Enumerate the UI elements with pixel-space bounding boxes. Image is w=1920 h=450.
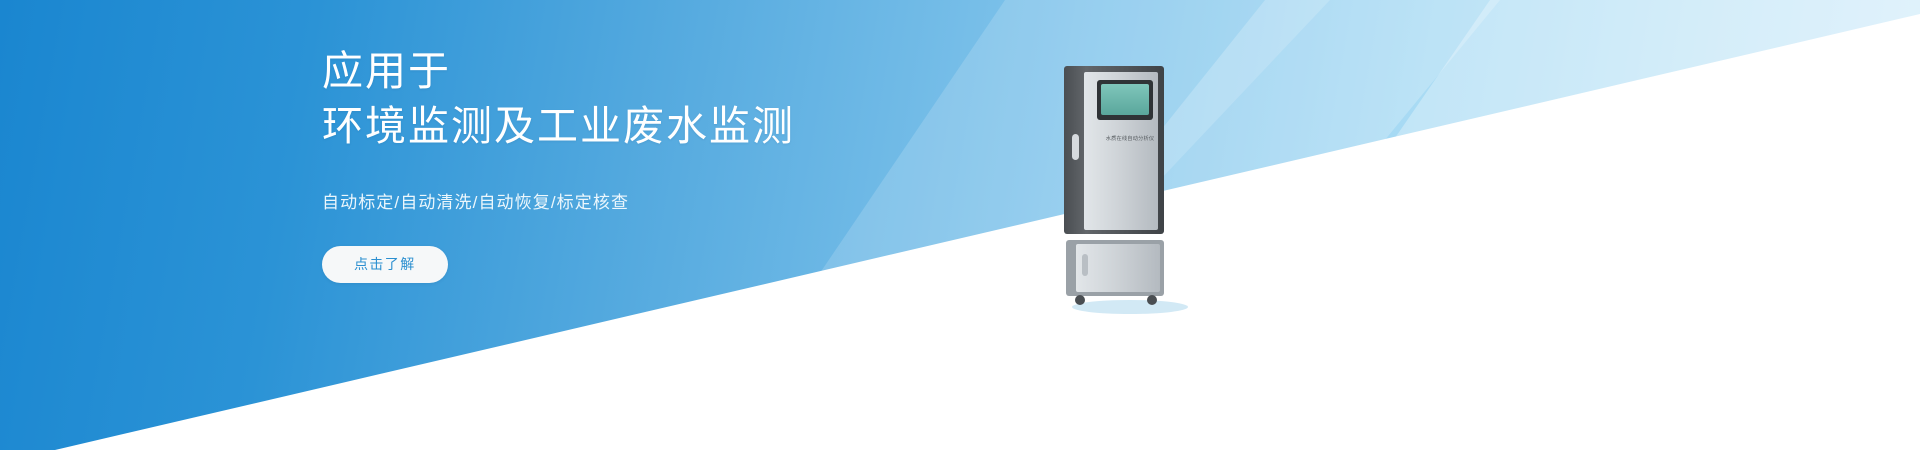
display-screen-face: [1101, 84, 1149, 115]
hero-text-block: 应用于 环境监测及工业废水监测 自动标定/自动清洗/自动恢复/标定核查 点击了解: [322, 44, 1082, 283]
cabinet-lower-door: [1076, 244, 1160, 292]
page-title: 应用于 环境监测及工业废水监测: [322, 44, 1082, 154]
product-analyzer-image: [1060, 64, 1190, 314]
headline-line-1: 应用于: [322, 44, 1082, 99]
caster-wheel-icon: [1075, 295, 1085, 305]
headline-line-2: 环境监测及工业废水监测: [322, 99, 1082, 154]
caster-wheel-icon: [1147, 295, 1157, 305]
device-label: 水质在线自动分析仪: [1094, 136, 1166, 143]
door-handle-lower-icon: [1082, 254, 1088, 276]
hero-banner: 应用于 环境监测及工业废水监测 自动标定/自动清洗/自动恢复/标定核查 点击了解: [0, 0, 1920, 450]
door-handle-icon: [1072, 134, 1079, 160]
product-shadow: [1072, 300, 1188, 314]
hero-subtitle: 自动标定/自动清洗/自动恢复/标定核查: [322, 154, 1082, 215]
learn-more-button[interactable]: 点击了解: [322, 246, 448, 283]
